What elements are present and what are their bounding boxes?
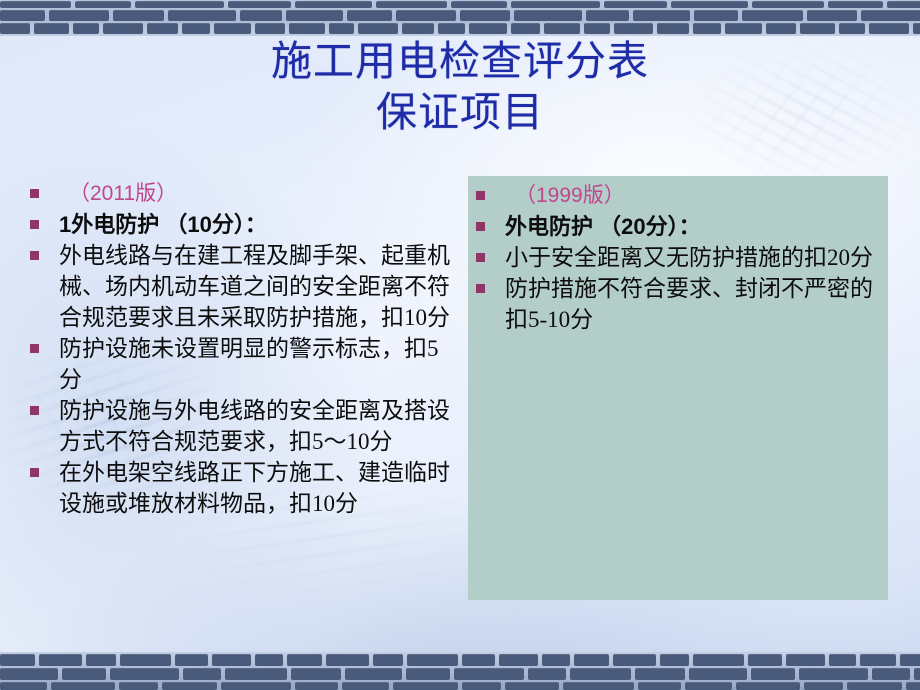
brick [212, 654, 251, 666]
bullet-line: 外电防护 （20分）： [476, 211, 880, 242]
brick [633, 10, 689, 21]
brick [255, 23, 285, 34]
square-bullet-icon [30, 251, 39, 260]
bullet-text: 外电线路与在建工程及脚手架、起重机械、场内机动车道之间的安全距离不符合规范要求且… [39, 240, 458, 333]
brick [499, 654, 538, 666]
brick [225, 668, 287, 680]
brick [671, 1, 748, 8]
bullet-line: 1外电防护 （10分）： [30, 209, 458, 240]
brick [604, 1, 668, 8]
brick [240, 10, 283, 21]
brick [807, 10, 858, 21]
brick [291, 668, 341, 680]
title-line-secondary: 保证项目 [0, 87, 920, 138]
brick [113, 10, 164, 21]
bullet-text: 小于安全距离又无防护措施的扣20分 [485, 242, 880, 273]
brick [51, 682, 115, 690]
brick [214, 23, 252, 34]
brick [402, 23, 434, 34]
brick [228, 1, 292, 8]
brick [800, 23, 836, 34]
bullet-text: 防护措施不符合要求、封闭不严密的扣5-10分 [485, 273, 880, 335]
brick-row-bottom-1 [0, 654, 920, 666]
brick-band-top-background [0, 0, 920, 36]
brick [135, 1, 224, 8]
square-bullet-icon [30, 189, 39, 198]
brick [62, 668, 106, 680]
brick [660, 654, 689, 666]
brick [454, 668, 524, 680]
brick [799, 668, 869, 680]
brick [295, 1, 372, 8]
bullet-text: 在外电架空线路正下方施工、建造临时设施或堆放材料物品，扣10分 [39, 457, 458, 519]
brick-row-bottom-2 [0, 668, 920, 680]
bullet-line: 小于安全距离又无防护措施的扣20分 [476, 242, 880, 273]
brick [511, 23, 541, 34]
brick [286, 10, 342, 21]
brick [689, 668, 747, 680]
brick [326, 654, 369, 666]
square-bullet-icon [476, 284, 485, 293]
brick [49, 10, 109, 21]
brick [0, 10, 45, 21]
brick-band-top [0, 0, 920, 36]
brick [345, 668, 403, 680]
brick [511, 1, 600, 8]
left-content-column: （2011版）1外电防护 （10分）：外电线路与在建工程及脚手架、起重机械、场内… [30, 178, 458, 519]
bullet-line: 在外电架空线路正下方施工、建造临时设施或堆放材料物品，扣10分 [30, 457, 458, 519]
brick [34, 23, 70, 34]
square-bullet-icon [30, 220, 39, 229]
brick [460, 10, 511, 21]
brick-row-top-1 [0, 1, 920, 8]
brick [860, 654, 895, 666]
brick [175, 654, 208, 666]
brick [748, 654, 781, 666]
brick [528, 668, 566, 680]
brick [613, 654, 656, 666]
brick [86, 654, 115, 666]
brick [786, 654, 825, 666]
brick [393, 682, 457, 690]
brick [914, 668, 920, 680]
brick [751, 668, 795, 680]
brick [906, 682, 920, 690]
brick [900, 654, 920, 666]
brick [586, 10, 629, 21]
brick [342, 682, 389, 690]
brick [685, 682, 732, 690]
brick [0, 668, 58, 680]
brick [584, 23, 610, 34]
brick [766, 23, 796, 34]
square-bullet-icon [30, 406, 39, 415]
brick [736, 682, 800, 690]
brick [358, 23, 398, 34]
brick [103, 23, 143, 34]
brick [694, 10, 739, 21]
brick [462, 654, 495, 666]
slide-title: 施工用电检查评分表 保证项目 [0, 36, 920, 138]
brick [407, 654, 458, 666]
brick [469, 23, 507, 34]
brick [544, 23, 580, 34]
bullet-line: 防护设施与外电线路的安全距离及搭设方式不符合规范要求，扣5～10分 [30, 395, 458, 457]
brick [872, 668, 910, 680]
brick-row-top-3 [0, 23, 920, 34]
brick [221, 682, 291, 690]
brick [829, 654, 856, 666]
brick [329, 23, 355, 34]
brick [693, 654, 744, 666]
brick-row-bottom-3 [0, 682, 920, 690]
brick [869, 23, 909, 34]
brick [614, 23, 654, 34]
brick [73, 23, 99, 34]
bullet-line: （2011版） [30, 178, 458, 209]
bullet-text: 防护设施未设置明显的警示标志，扣5分 [39, 333, 458, 395]
brick [847, 682, 902, 690]
brick [110, 668, 180, 680]
brick [462, 682, 501, 690]
square-bullet-icon [476, 222, 485, 231]
brick [563, 682, 633, 690]
brick [742, 10, 802, 21]
brick [913, 23, 920, 34]
brick-band-bottom [0, 652, 920, 690]
square-bullet-icon [30, 468, 39, 477]
bullet-line: 防护措施不符合要求、封闭不严密的扣5-10分 [476, 273, 880, 335]
brick [725, 23, 763, 34]
brick [120, 654, 171, 666]
bullet-line: 防护设施未设置明显的警示标志，扣5分 [30, 333, 458, 395]
brick [574, 654, 609, 666]
right-panel-content: （1999版）外电防护 （20分）：小于安全距离又无防护措施的扣20分防护措施不… [476, 180, 880, 335]
brick [373, 654, 402, 666]
brick [804, 682, 843, 690]
bullet-text: （2011版） [39, 178, 458, 209]
brick [295, 682, 338, 690]
brick [887, 1, 920, 8]
brick [75, 1, 131, 8]
brick [119, 682, 158, 690]
brick [635, 668, 685, 680]
brick [183, 668, 221, 680]
brick [406, 668, 450, 680]
title-line-primary: 施工用电检查评分表 [0, 36, 920, 87]
bullet-text: 防护设施与外电线路的安全距离及搭设方式不符合规范要求，扣5～10分 [39, 395, 458, 457]
brick [287, 654, 322, 666]
brick [505, 682, 560, 690]
brick [657, 23, 689, 34]
brick [451, 1, 507, 8]
brick [162, 682, 217, 690]
brick [255, 654, 282, 666]
brick [0, 682, 47, 690]
brick-band-bottom-background [0, 652, 920, 690]
right-content-panel: （1999版）外电防护 （20分）：小于安全距离又无防护措施的扣20分防护措施不… [468, 176, 888, 600]
bullet-text: （1999版） [485, 180, 880, 211]
brick [147, 23, 179, 34]
brick [542, 654, 569, 666]
brick [0, 654, 35, 666]
brick [570, 668, 632, 680]
brick [861, 10, 920, 21]
bullet-line: （1999版） [476, 180, 880, 211]
brick [693, 23, 721, 34]
brick [514, 10, 582, 21]
brick [828, 1, 884, 8]
brick [638, 682, 681, 690]
brick [0, 1, 71, 8]
brick [289, 23, 325, 34]
square-bullet-icon [476, 253, 485, 262]
brick-row-top-2 [0, 10, 920, 21]
brick [438, 23, 466, 34]
slide-canvas: 施工用电检查评分表 保证项目 （2011版）1外电防护 （10分）：外电线路与在… [0, 0, 920, 690]
brick [347, 10, 392, 21]
brick [182, 23, 210, 34]
brick [39, 654, 82, 666]
brick [168, 10, 236, 21]
square-bullet-icon [30, 344, 39, 353]
bullet-line: 外电线路与在建工程及脚手架、起重机械、场内机动车道之间的安全距离不符合规范要求且… [30, 240, 458, 333]
brick [752, 1, 823, 8]
bullet-text: 1外电防护 （10分）： [39, 209, 458, 240]
bullet-text: 外电防护 （20分）： [485, 211, 880, 242]
brick [396, 10, 456, 21]
brick [376, 1, 447, 8]
brick [0, 23, 30, 34]
square-bullet-icon [476, 191, 485, 200]
brick [839, 23, 865, 34]
